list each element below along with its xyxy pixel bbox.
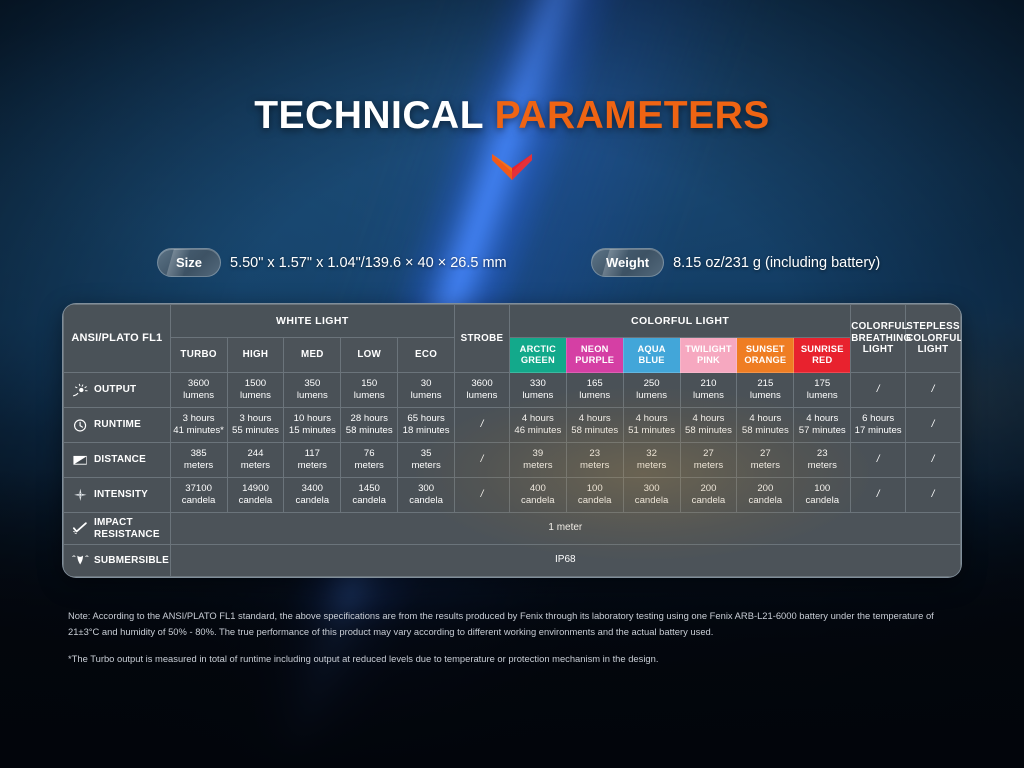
row-label-submersible: SUBMERSIBLE	[64, 545, 171, 577]
cell-output-eco: 30lumens	[398, 373, 455, 408]
table-row: IMPACTRESISTANCE1 meter	[64, 513, 961, 545]
column-header-arctic-green: ARCTICGREEN	[509, 338, 566, 373]
table-row: INTENSITY37100candela14900candela3400can…	[64, 478, 961, 513]
cell-intensity-eco: 300candela	[398, 478, 455, 513]
row-label-text: OUTPUT	[94, 384, 136, 395]
column-header-eco: ECO	[398, 338, 455, 373]
cell-intensity-low: 1450candela	[341, 478, 398, 513]
size-value: 5.50" x 1.57" x 1.04"/139.6 × 40 × 26.5 …	[230, 255, 507, 271]
cell-output-strobe: 3600lumens	[455, 373, 510, 408]
specifications-table-container: ANSI/PLATO FL1WHITE LIGHTSTROBECOLORFUL …	[62, 303, 962, 578]
cell-runtime-neon-purple: 4 hours58 minutes	[566, 408, 623, 443]
impact-icon	[72, 521, 89, 536]
row-label-text: SUBMERSIBLE	[94, 555, 169, 566]
cell-runtime-med: 10 hours15 minutes	[284, 408, 341, 443]
table-row: DISTANCE385meters244meters117meters76met…	[64, 443, 961, 478]
cell-intensity-neon-purple: 100candela	[566, 478, 623, 513]
row-label-runtime: RUNTIME	[64, 408, 171, 443]
cell-submersible-value: IP68	[170, 545, 960, 577]
column-header-low: LOW	[341, 338, 398, 373]
chevron-down-icon	[0, 152, 1024, 182]
table-body: OUTPUT3600lumens1500lumens350lumens150lu…	[64, 373, 961, 577]
cell-intensity-aqua-blue: 300candela	[623, 478, 680, 513]
submersible-icon	[72, 553, 89, 568]
cell-runtime-sunset-orange: 4 hours58 minutes	[737, 408, 794, 443]
column-header-sunset-orange: SUNSETORANGE	[737, 338, 794, 373]
page-title-accent: PARAMETERS	[495, 94, 770, 137]
cell-distance-med: 117meters	[284, 443, 341, 478]
cell-intensity-arctic-green: 400candela	[509, 478, 566, 513]
cell-runtime-low: 28 hours58 minutes	[341, 408, 398, 443]
page-title: TECHNICAL PARAMETERS	[0, 94, 1024, 138]
table-head: ANSI/PLATO FL1WHITE LIGHTSTROBECOLORFUL …	[64, 305, 961, 373]
cell-distance-strobe: /	[455, 443, 510, 478]
intensity-icon	[72, 488, 89, 503]
row-label-text: RUNTIME	[94, 419, 141, 430]
cell-output-arctic-green: 330lumens	[509, 373, 566, 408]
cell-output-turbo: 3600lumens	[170, 373, 227, 408]
cell-output-stepless: /	[906, 373, 961, 408]
cell-output-neon-purple: 165lumens	[566, 373, 623, 408]
cell-distance-sunrise-red: 23meters	[794, 443, 851, 478]
weight-value: 8.15 oz/231 g (including battery)	[673, 255, 880, 271]
cell-intensity-twilight-pink: 200candela	[680, 478, 737, 513]
group-header-stepless-colorful-light: STEPLESSCOLORFULLIGHT	[906, 305, 961, 373]
cell-distance-stepless: /	[906, 443, 961, 478]
cell-impact-resistance-value: 1 meter	[170, 513, 960, 545]
cell-distance-eco: 35meters	[398, 443, 455, 478]
cell-distance-aqua-blue: 32meters	[623, 443, 680, 478]
note-standard: Note: According to the ANSI/PLATO FL1 st…	[68, 608, 958, 641]
cell-distance-sunset-orange: 27meters	[737, 443, 794, 478]
column-header-aqua-blue: AQUABLUE	[623, 338, 680, 373]
cell-distance-turbo: 385meters	[170, 443, 227, 478]
cell-runtime-aqua-blue: 4 hours51 minutes	[623, 408, 680, 443]
cell-runtime-strobe: /	[455, 408, 510, 443]
cell-runtime-arctic-green: 4 hours46 minutes	[509, 408, 566, 443]
cell-distance-low: 76meters	[341, 443, 398, 478]
group-header-colorful-light: COLORFUL LIGHT	[509, 305, 850, 338]
cell-intensity-strobe: /	[455, 478, 510, 513]
cell-runtime-eco: 65 hours18 minutes	[398, 408, 455, 443]
table-row: SUBMERSIBLEIP68	[64, 545, 961, 577]
page-title-plain: TECHNICAL	[254, 94, 494, 137]
group-header-white-light: WHITE LIGHT	[170, 305, 454, 338]
cell-intensity-turbo: 37100candela	[170, 478, 227, 513]
cell-output-med: 350lumens	[284, 373, 341, 408]
cell-runtime-high: 3 hours55 minutes	[227, 408, 284, 443]
cell-output-sunrise-red: 175lumens	[794, 373, 851, 408]
cell-output-high: 1500lumens	[227, 373, 284, 408]
size-spec: Size 5.50" x 1.57" x 1.04"/139.6 × 40 × …	[157, 248, 507, 277]
size-weight-row: Size 5.50" x 1.57" x 1.04"/139.6 × 40 × …	[0, 248, 1024, 278]
group-header-strobe: STROBE	[455, 305, 510, 373]
clock-icon	[72, 418, 89, 433]
row-label-output: OUTPUT	[64, 373, 171, 408]
table-corner-header: ANSI/PLATO FL1	[64, 305, 171, 373]
weight-pill-label: Weight	[591, 248, 664, 277]
cell-runtime-breathing: 6 hours17 minutes	[851, 408, 906, 443]
cell-runtime-sunrise-red: 4 hours57 minutes	[794, 408, 851, 443]
cell-runtime-stepless: /	[906, 408, 961, 443]
cell-runtime-twilight-pink: 4 hours58 minutes	[680, 408, 737, 443]
output-icon	[72, 383, 89, 398]
column-header-sunrise-red: SUNRISERED	[794, 338, 851, 373]
cell-intensity-breathing: /	[851, 478, 906, 513]
row-label-text: IMPACTRESISTANCE	[94, 517, 160, 539]
cell-intensity-high: 14900candela	[227, 478, 284, 513]
weight-spec: Weight 8.15 oz/231 g (including battery)	[591, 248, 880, 277]
note-turbo: *The Turbo output is measured in total o…	[68, 651, 958, 667]
cell-output-aqua-blue: 250lumens	[623, 373, 680, 408]
cell-intensity-med: 3400candela	[284, 478, 341, 513]
row-label-text: INTENSITY	[94, 489, 148, 500]
cell-distance-breathing: /	[851, 443, 906, 478]
cell-distance-high: 244meters	[227, 443, 284, 478]
cell-intensity-sunset-orange: 200candela	[737, 478, 794, 513]
table-row: OUTPUT3600lumens1500lumens350lumens150lu…	[64, 373, 961, 408]
column-header-high: HIGH	[227, 338, 284, 373]
cell-intensity-sunrise-red: 100candela	[794, 478, 851, 513]
cell-distance-arctic-green: 39meters	[509, 443, 566, 478]
group-header-colorful-breathing-light: COLORFULBREATHINGLIGHT	[851, 305, 906, 373]
cell-distance-twilight-pink: 27meters	[680, 443, 737, 478]
row-label-intensity: INTENSITY	[64, 478, 171, 513]
column-header-med: MED	[284, 338, 341, 373]
size-pill-label: Size	[157, 248, 221, 277]
cell-output-twilight-pink: 210lumens	[680, 373, 737, 408]
specifications-table: ANSI/PLATO FL1WHITE LIGHTSTROBECOLORFUL …	[63, 304, 961, 577]
beam-distance-icon	[72, 453, 89, 468]
column-header-turbo: TURBO	[170, 338, 227, 373]
cell-intensity-stepless: /	[906, 478, 961, 513]
cell-output-sunset-orange: 215lumens	[737, 373, 794, 408]
row-label-impact-resistance: IMPACTRESISTANCE	[64, 513, 171, 545]
cell-output-low: 150lumens	[341, 373, 398, 408]
row-label-distance: DISTANCE	[64, 443, 171, 478]
footer-notes: Note: According to the ANSI/PLATO FL1 st…	[68, 608, 958, 667]
cell-runtime-turbo: 3 hours41 minutes*	[170, 408, 227, 443]
cell-output-breathing: /	[851, 373, 906, 408]
row-label-text: DISTANCE	[94, 454, 146, 465]
table-row: RUNTIME3 hours41 minutes*3 hours55 minut…	[64, 408, 961, 443]
cell-distance-neon-purple: 23meters	[566, 443, 623, 478]
column-header-neon-purple: NEONPURPLE	[566, 338, 623, 373]
column-header-twilight-pink: TWILIGHTPINK	[680, 338, 737, 373]
